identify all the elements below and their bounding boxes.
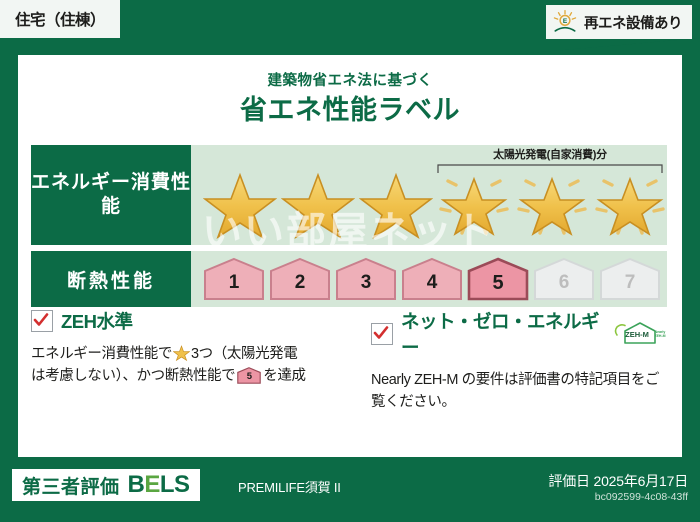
solar-portion-note: 太陽光発電(自家消費)分: [436, 146, 664, 162]
zeh-standard-heading: ZEH水準: [31, 308, 349, 334]
net-zero-energy-note: ネット・ゼロ・エネルギー ZEH-M Nearly ZEH-M Nearly Z…: [349, 308, 667, 414]
zeh-body-part1: エネルギー消費性能で: [31, 346, 172, 362]
energy-star-rating: [203, 167, 671, 239]
bels-logo-ls: LS: [160, 471, 190, 498]
insulation-badge-inline: 5: [237, 367, 261, 384]
building-type-label: 住宅（住棟）: [15, 8, 105, 30]
insulation-badge-inline-value: 5: [237, 370, 261, 385]
label-footer: 第三者評価 BELS PREMILIFE須賀 II 評価日 2025年6月17日…: [0, 460, 700, 522]
zeh-standard-checkbox[interactable]: [31, 310, 53, 332]
third-party-eval-label: 第三者評価: [22, 472, 120, 499]
insulation-level-3: 3: [335, 257, 397, 301]
bels-logo-e: E: [144, 471, 160, 498]
zeh-m-logo-text: ZEH-M: [625, 330, 649, 339]
star-filled-3: [359, 167, 433, 239]
label-title: 省エネ性能ラベル: [18, 88, 682, 127]
zeh-body-part4: を達成: [263, 368, 305, 384]
check-icon: [33, 312, 49, 328]
insulation-level-1-value: 1: [203, 257, 265, 301]
zeh-m-logo-sub2: ZEH-M: [654, 334, 665, 338]
star-filled-1: [203, 167, 277, 239]
insulation-level-3-value: 3: [335, 257, 397, 301]
star-solar-5: [515, 167, 589, 239]
insulation-level-6-value: 6: [533, 257, 595, 301]
energy-performance-body: 太陽光発電(自家消費)分: [191, 145, 667, 245]
star-icon: [173, 344, 190, 361]
insulation-performance-row: 断熱性能 1 2: [31, 251, 667, 307]
insulation-level-4-value: 4: [401, 257, 463, 301]
net-zero-energy-checkbox[interactable]: [371, 323, 393, 345]
zeh-standard-body: エネルギー消費性能で3つ（太陽光発電は考慮しない）、かつ断熱性能で5を達成: [31, 343, 349, 388]
evaluation-id: bc092599-4c08-43ff: [595, 491, 688, 503]
label-card: 建築物省エネ法に基づく 省エネ性能ラベル エネルギー消費性能 太陽光発電(自家消…: [18, 55, 682, 457]
insulation-level-scale: 1 2 3: [203, 257, 665, 301]
net-zero-energy-title: ネット・ゼロ・エネルギー: [401, 308, 605, 360]
insulation-level-7: 7: [599, 257, 661, 301]
renewable-equipment-label: 再エネ設備あり: [584, 12, 682, 33]
star-solar-6: [593, 167, 667, 239]
bels-badge: 第三者評価 BELS: [12, 469, 200, 501]
insulation-level-2: 2: [269, 257, 331, 301]
bels-logo: BELS: [128, 471, 190, 499]
zeh-body-part3: は考慮しない）、かつ断熱性能で: [31, 368, 235, 384]
building-name: PREMILIFE須賀 II: [238, 477, 341, 496]
net-zero-energy-heading: ネット・ゼロ・エネルギー ZEH-M Nearly ZEH-M: [371, 308, 667, 360]
insulation-level-2-value: 2: [269, 257, 331, 301]
insulation-performance-body: 1 2 3: [191, 251, 667, 307]
zeh-standard-note: ZEH水準 エネルギー消費性能で3つ（太陽光発電は考慮しない）、かつ断熱性能で5…: [31, 308, 349, 414]
performance-section: エネルギー消費性能 太陽光発電(自家消費)分: [31, 145, 667, 313]
energy-performance-label: 住宅（住棟） E 再エネ設備あり 建築物省エネ法に基づく 省エネ性能ラベル エネ…: [0, 0, 700, 522]
insulation-level-7-value: 7: [599, 257, 661, 301]
insulation-level-1: 1: [203, 257, 265, 301]
bels-logo-b: B: [128, 471, 145, 498]
energy-performance-label: エネルギー消費性能: [31, 145, 191, 245]
notes-section: ZEH水準 エネルギー消費性能で3つ（太陽光発電は考慮しない）、かつ断熱性能で5…: [31, 308, 667, 414]
zeh-m-logo-sub1: Nearly: [655, 330, 666, 334]
zeh-m-logo-icon: ZEH-M Nearly ZEH-M: [611, 320, 667, 348]
svg-text:E: E: [563, 18, 568, 25]
evaluation-date: 評価日 2025年6月17日: [548, 471, 688, 491]
insulation-level-6: 6: [533, 257, 595, 301]
energy-performance-row: エネルギー消費性能 太陽光発電(自家消費)分: [31, 145, 667, 245]
insulation-performance-label: 断熱性能: [31, 251, 191, 307]
insulation-level-5-value: 5: [467, 257, 529, 301]
building-type-chip: 住宅（住棟）: [0, 0, 120, 38]
insulation-level-4: 4: [401, 257, 463, 301]
zeh-body-part2: 3つ（太陽光発電: [191, 346, 297, 362]
check-icon: [373, 325, 389, 341]
insulation-level-5-achieved: 5: [467, 257, 529, 301]
net-zero-energy-body: Nearly ZEH-M の要件は評価書の特記項目をご覧ください。: [371, 369, 667, 414]
star-filled-2: [281, 167, 355, 239]
renewable-equipment-badge: E 再エネ設備あり: [546, 5, 692, 39]
zeh-standard-title: ZEH水準: [61, 308, 133, 334]
star-solar-4: [437, 167, 511, 239]
sun-icon: E: [552, 9, 578, 35]
label-subtitle: 建築物省エネ法に基づく: [18, 69, 682, 90]
